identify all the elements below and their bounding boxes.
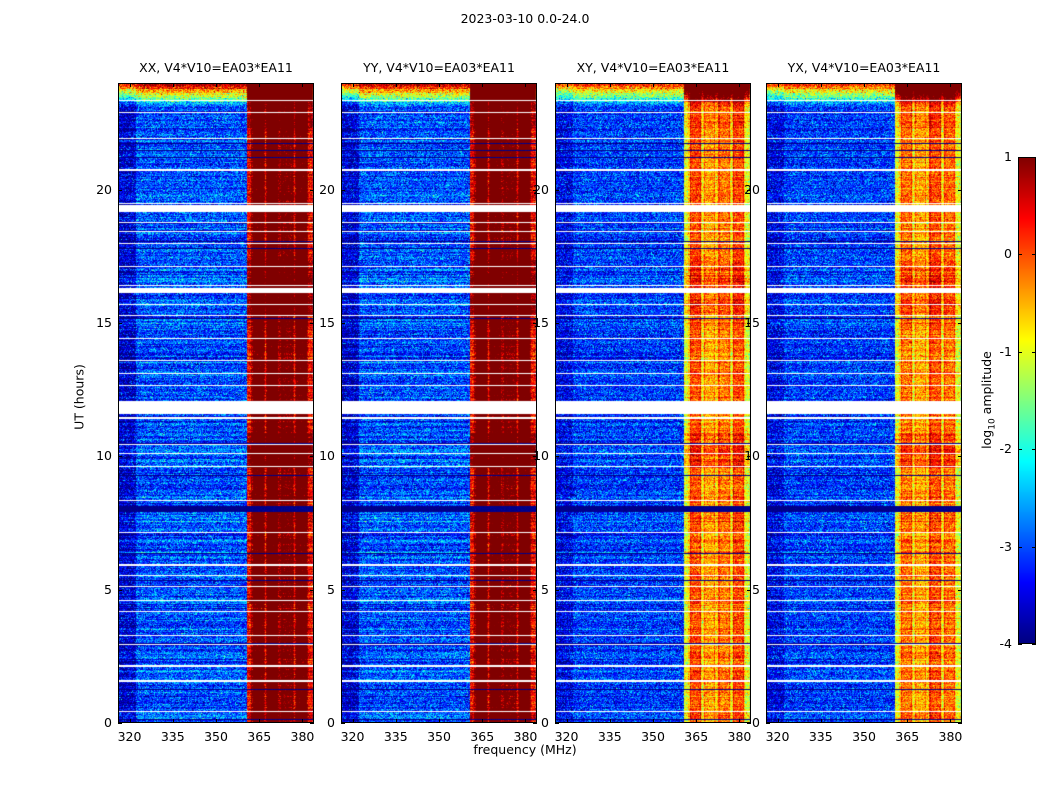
colorbar-tick — [1032, 449, 1036, 450]
y-tick-label: 20 — [700, 182, 760, 197]
x-tick — [950, 719, 951, 723]
colorbar-tick — [1018, 254, 1022, 255]
y-tick — [766, 723, 770, 724]
colorbar-tick — [1018, 547, 1022, 548]
x-tick — [259, 83, 260, 87]
x-tick — [216, 83, 217, 87]
colorbar-tick — [1032, 352, 1036, 353]
spectrogram-image-xy — [555, 83, 751, 723]
figure-canvas: 2023-03-10 0.0-24.0 XX, V4*V10=EA03*EA11… — [0, 0, 1050, 800]
y-tick-label: 15 — [700, 315, 760, 330]
y-tick — [118, 456, 122, 457]
y-tick-label: 10 — [275, 448, 335, 463]
y-tick-label: 15 — [489, 315, 549, 330]
x-tick — [439, 719, 440, 723]
x-tick — [778, 83, 779, 87]
colorbar-tick — [1032, 157, 1036, 158]
panel-title-yx: YX, V4*V10=EA03*EA11 — [734, 60, 994, 75]
y-tick-label: 0 — [700, 715, 760, 730]
y-tick-label: 15 — [52, 315, 112, 330]
x-tick — [259, 719, 260, 723]
y-tick — [958, 723, 962, 724]
y-tick — [341, 456, 345, 457]
x-tick — [567, 719, 568, 723]
y-tick — [118, 723, 122, 724]
colorbar-tick — [1018, 644, 1022, 645]
x-tick — [696, 719, 697, 723]
spectrogram-image-yy — [341, 83, 537, 723]
y-tick — [766, 590, 770, 591]
colorbar-label: log10 amplitude — [979, 351, 998, 449]
colorbar-tick — [1032, 644, 1036, 645]
x-tick — [216, 719, 217, 723]
spectrogram-panel-xx[interactable]: XX, V4*V10=EA03*EA1132033535036538005101… — [118, 83, 314, 723]
y-tick — [555, 323, 559, 324]
spectrogram-panel-yy[interactable]: YY, V4*V10=EA03*EA1132033535036538005101… — [341, 83, 537, 723]
x-tick — [353, 83, 354, 87]
x-tick — [396, 719, 397, 723]
y-tick — [341, 590, 345, 591]
x-tick — [653, 83, 654, 87]
spectrogram-image-yx — [766, 83, 962, 723]
colorbar[interactable] — [1018, 157, 1036, 644]
y-tick — [958, 323, 962, 324]
colorbar-label-suffix: amplitude — [979, 351, 994, 418]
spectrogram-panel-yx[interactable]: YX, V4*V10=EA03*EA1132033535036538005101… — [766, 83, 962, 723]
x-tick — [610, 83, 611, 87]
y-axis-label: UT (hours) — [72, 364, 87, 430]
x-tick — [439, 83, 440, 87]
x-tick — [907, 719, 908, 723]
x-tick — [482, 83, 483, 87]
x-tick — [864, 83, 865, 87]
x-tick — [739, 83, 740, 87]
x-tick — [302, 83, 303, 87]
y-tick — [958, 456, 962, 457]
x-tick — [821, 719, 822, 723]
y-tick-label: 0 — [489, 715, 549, 730]
x-tick — [353, 719, 354, 723]
x-tick — [907, 83, 908, 87]
y-tick-label: 20 — [52, 182, 112, 197]
colorbar-tick-label: -3 — [972, 539, 1012, 554]
y-tick-label: 10 — [52, 448, 112, 463]
x-tick — [610, 719, 611, 723]
y-tick-label: 5 — [275, 582, 335, 597]
colorbar-tick — [1018, 352, 1022, 353]
x-tick — [396, 83, 397, 87]
colorbar-label-prefix: log — [979, 430, 994, 449]
x-tick — [130, 83, 131, 87]
x-tick — [653, 719, 654, 723]
colorbar-tick — [1018, 449, 1022, 450]
y-tick — [341, 323, 345, 324]
y-tick-label: 10 — [489, 448, 549, 463]
colorbar-tick-label: 0 — [972, 246, 1012, 261]
y-tick — [555, 190, 559, 191]
y-tick-label: 20 — [275, 182, 335, 197]
y-tick-label: 0 — [52, 715, 112, 730]
y-tick — [118, 323, 122, 324]
y-tick — [555, 590, 559, 591]
y-tick — [766, 190, 770, 191]
y-tick — [341, 190, 345, 191]
y-tick — [766, 323, 770, 324]
x-tick — [950, 83, 951, 87]
y-tick — [118, 590, 122, 591]
y-tick-label: 5 — [52, 582, 112, 597]
spectrogram-image-xx — [118, 83, 314, 723]
x-tick — [173, 719, 174, 723]
x-tick — [525, 83, 526, 87]
x-tick — [130, 719, 131, 723]
y-tick — [958, 590, 962, 591]
colorbar-tick-label: -4 — [972, 636, 1012, 651]
colorbar-frame — [1018, 157, 1036, 644]
y-tick-label: 20 — [489, 182, 549, 197]
y-tick-label: 0 — [275, 715, 335, 730]
y-tick — [555, 456, 559, 457]
figure-suptitle: 2023-03-10 0.0-24.0 — [0, 11, 1050, 26]
y-tick — [341, 723, 345, 724]
colorbar-tick-label: 1 — [972, 149, 1012, 164]
colorbar-tick — [1018, 157, 1022, 158]
y-tick — [118, 190, 122, 191]
x-axis-label: frequency (MHz) — [0, 742, 1050, 757]
panel-title-xx: XX, V4*V10=EA03*EA11 — [86, 60, 346, 75]
colorbar-tick — [1032, 547, 1036, 548]
y-tick-label: 15 — [275, 315, 335, 330]
x-tick — [696, 83, 697, 87]
x-tick — [482, 719, 483, 723]
x-tick — [821, 83, 822, 87]
y-tick — [958, 190, 962, 191]
y-tick-label: 10 — [700, 448, 760, 463]
colorbar-label-sub: 10 — [987, 418, 997, 429]
spectrogram-panel-xy[interactable]: XY, V4*V10=EA03*EA1132033535036538005101… — [555, 83, 751, 723]
x-tick — [778, 719, 779, 723]
x-tick — [173, 83, 174, 87]
x-tick — [864, 719, 865, 723]
y-tick-label: 5 — [700, 582, 760, 597]
y-tick-label: 5 — [489, 582, 549, 597]
x-tick — [567, 83, 568, 87]
y-tick — [555, 723, 559, 724]
y-tick — [766, 456, 770, 457]
colorbar-tick — [1032, 254, 1036, 255]
